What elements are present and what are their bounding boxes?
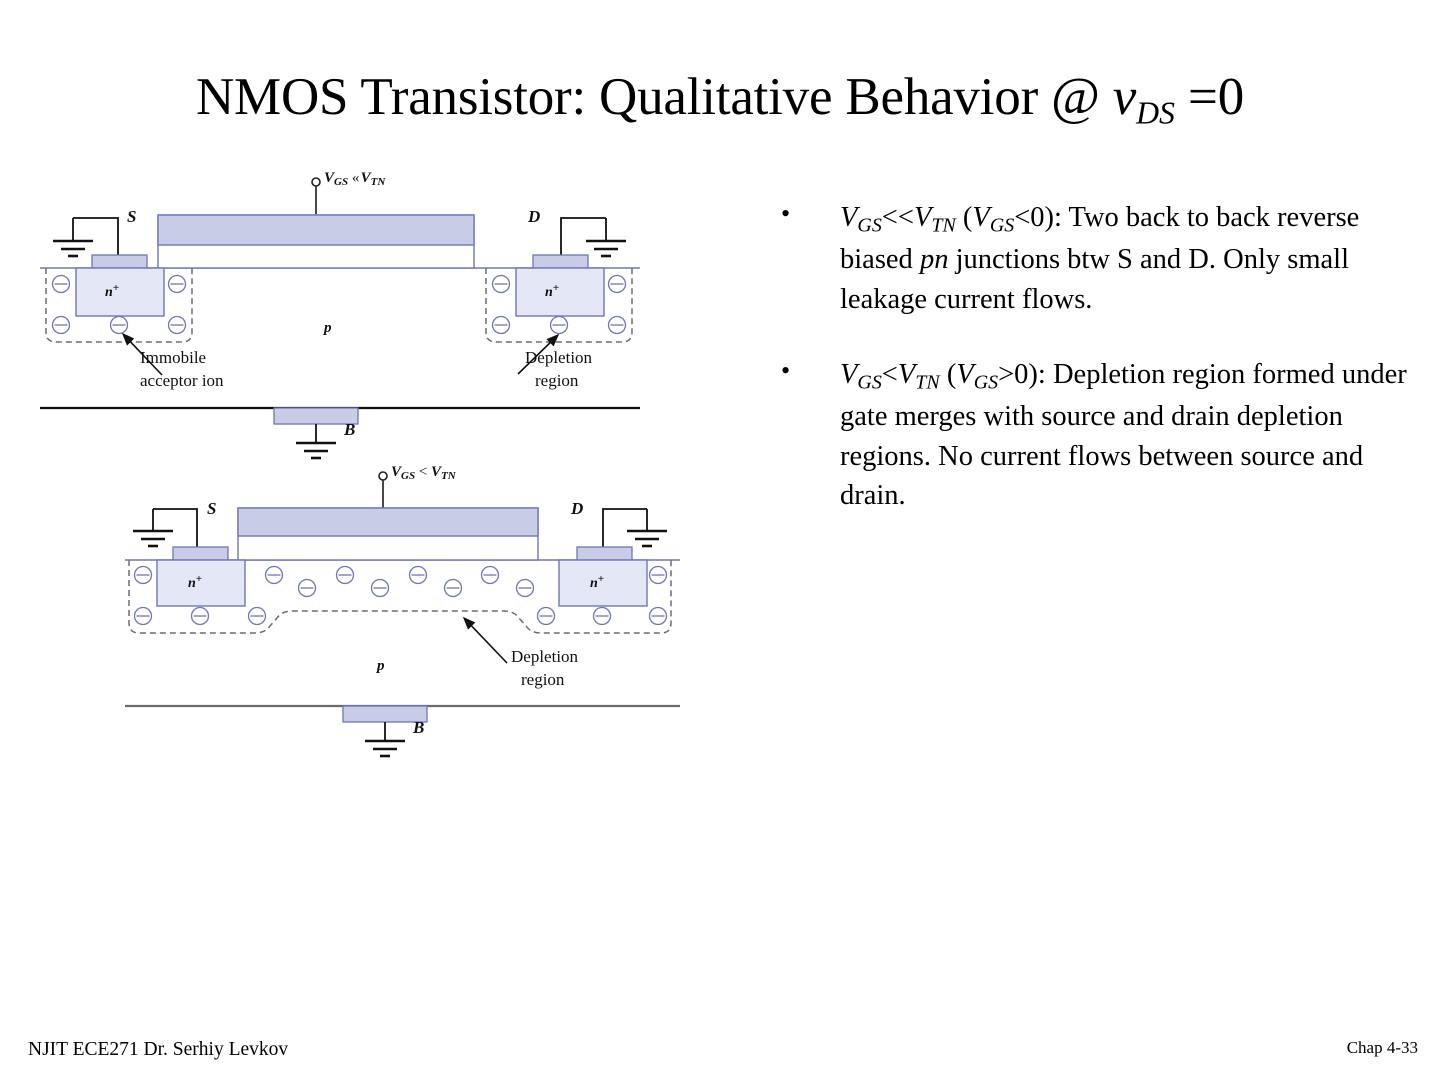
footer-course-info: NJIT ECE271 Dr. Serhiy Levkov [28, 1039, 288, 1061]
substrate-doping-label-bottom: p [375, 658, 385, 674]
drain-terminal-label: D [527, 207, 540, 226]
source-wire [73, 218, 118, 260]
gate-terminal-node-icon [312, 178, 320, 186]
source-ground-symbol [53, 218, 93, 256]
depletion-region-label-bottom-line1: Depletion [511, 647, 579, 666]
source-n-plus-region [76, 268, 164, 316]
drain-contact-pad-bottom [577, 547, 632, 560]
page-title: NMOS Transistor: Qualitative Behavior @ … [0, 70, 1440, 130]
nmos-cross-section-top-svg: VGS « VTN S n+ [30, 160, 650, 460]
depletion-region-leader-line-bottom [464, 618, 507, 663]
body-terminal-label-bottom: B [412, 718, 424, 737]
depletion-region-label-bottom-line2: region [521, 670, 565, 689]
source-contact-pad-bottom [173, 547, 228, 560]
depletion-region-label-top-line1: Depletion [525, 348, 593, 367]
bullet-item-2: • VGS<VTN (VGS>0): Depletion region form… [775, 355, 1415, 516]
depletion-region-label-top-line2: region [535, 371, 579, 390]
bullet-item-1: • VGS<<VTN (VGS<0): Two back to back rev… [775, 198, 1415, 319]
bullet-list: • VGS<<VTN (VGS<0): Two back to back rev… [775, 198, 1415, 552]
source-contact-pad [92, 255, 147, 268]
gate-voltage-label-top: VGS « VTN [324, 170, 386, 188]
body-terminal-label-top: B [343, 420, 355, 439]
substrate-doping-label-top: p [322, 320, 332, 336]
bullet-text-1: VGS<<VTN (VGS<0): Two back to back rever… [840, 202, 1359, 315]
title-variable-v: v [1113, 68, 1136, 126]
bullet-marker-2: • [781, 353, 790, 389]
footer-chapter-page: Chap 4-33 [1347, 1038, 1418, 1058]
source-terminal-label: S [127, 207, 136, 226]
gate-voltage-label-bottom: VGS < VTN [391, 464, 457, 482]
drain-n-plus-region [516, 268, 604, 316]
title-main-text: NMOS Transistor: Qualitative Behavior @ [196, 68, 1113, 126]
channel-acceptor-ions [266, 567, 534, 597]
bullet-text-2: VGS<VTN (VGS>0): Depletion region formed… [840, 359, 1407, 511]
drain-contact-pad [533, 255, 588, 268]
gate-terminal-node-icon-bottom [379, 472, 387, 480]
slide-root: NMOS Transistor: Qualitative Behavior @ … [0, 0, 1440, 1080]
drain-ground-symbol [586, 218, 626, 256]
gate-electrode-bottom [238, 508, 538, 536]
body-ground-symbol-top [296, 443, 336, 458]
immobile-acceptor-ion-label-line2: acceptor ion [140, 371, 224, 390]
title-tail-text: =0 [1175, 68, 1244, 126]
gate-electrode [158, 215, 474, 245]
source-terminal-label-bottom: S [207, 499, 216, 518]
body-ground-symbol-bottom [365, 741, 405, 756]
title-variable-subscript: DS [1136, 95, 1175, 130]
drain-wire [561, 218, 606, 260]
nmos-cross-section-bottom-svg: VGS < VTN S n+ D [115, 458, 690, 758]
figure-nmos-vgs-much-less-vtn: VGS « VTN S n+ [30, 160, 650, 460]
bullet-marker-1: • [781, 196, 790, 232]
drain-terminal-label-bottom: D [570, 499, 583, 518]
source-ground-symbol-bottom [133, 509, 173, 546]
figure-nmos-vgs-less-vtn: VGS < VTN S n+ D [115, 458, 690, 758]
drain-ground-symbol-bottom [627, 509, 667, 546]
immobile-acceptor-ion-label-line1: Immobile [140, 348, 206, 367]
